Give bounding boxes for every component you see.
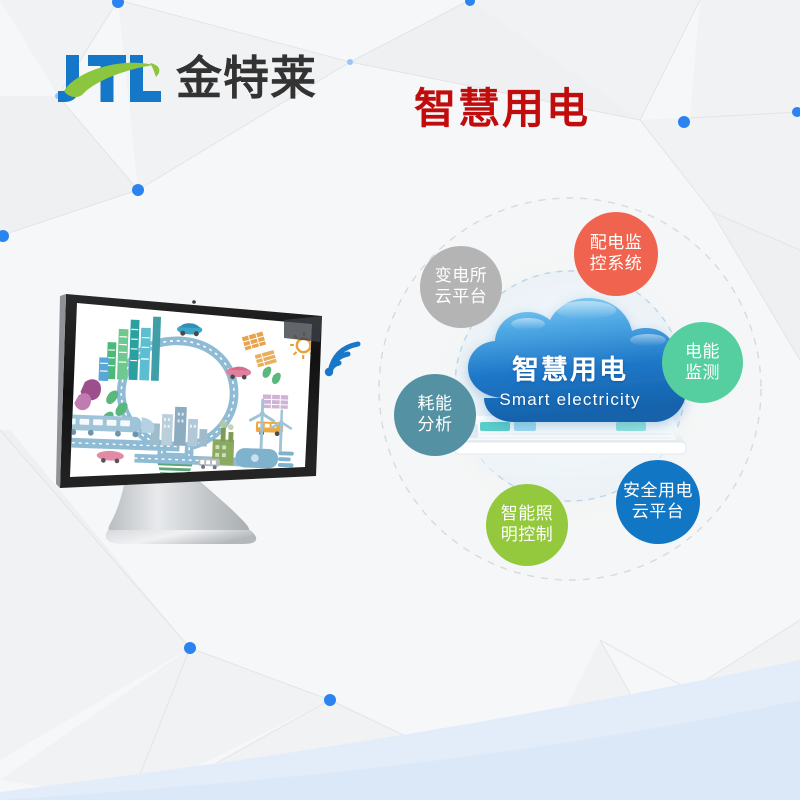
jtl-logo-icon <box>58 47 164 109</box>
monitor-base <box>106 530 257 544</box>
desktop-monitor <box>44 272 324 562</box>
page-title: 智慧用电 <box>414 88 590 130</box>
smart-electricity-ecosystem-diagram: 智慧用电 Smart electricity 配电监 控系统 变电所 云平台 电… <box>370 188 770 590</box>
brand-logo: 金特莱 <box>58 40 317 116</box>
bubble-label: 变电所 云平台 <box>435 266 488 307</box>
bubble-label: 耗能 分析 <box>418 394 453 435</box>
bubble-consumption-analysis[interactable]: 耗能 分析 <box>394 374 476 456</box>
poster-canvas: 金特莱 智慧用电 <box>0 0 800 800</box>
bubble-energy-monitoring[interactable]: 电能 监测 <box>662 322 743 403</box>
bubble-substation-cloud-platform[interactable]: 变电所 云平台 <box>420 246 502 328</box>
bubble-safe-electricity-cloud-platform[interactable]: 安全用电 云平台 <box>616 460 700 544</box>
header: 金特莱 智慧用电 <box>0 40 800 120</box>
bubble-label: 配电监 控系统 <box>590 233 643 274</box>
bubble-label: 智能照 明控制 <box>501 504 554 545</box>
bubble-label: 安全用电 云平台 <box>623 481 693 522</box>
monitor-camera <box>192 300 196 304</box>
brand-name-cn: 金特莱 <box>176 55 317 101</box>
bubble-power-distribution-monitoring[interactable]: 配电监 控系统 <box>574 212 658 296</box>
bubble-label: 电能 监测 <box>685 342 720 383</box>
bubble-intelligent-lighting-control[interactable]: 智能照 明控制 <box>486 484 568 566</box>
wifi-signal-icon <box>316 330 372 386</box>
